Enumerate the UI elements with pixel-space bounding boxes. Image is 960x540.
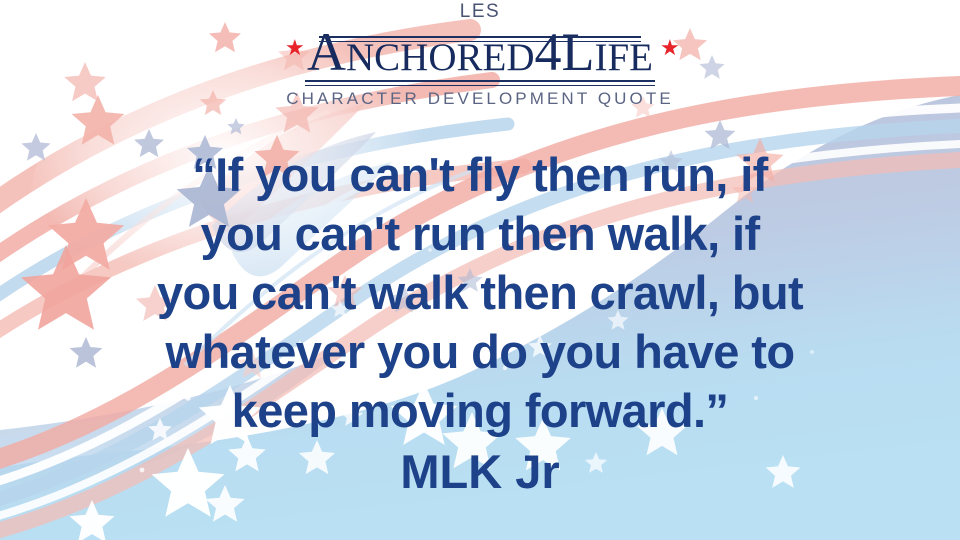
logo-part-4: IFE [595, 36, 654, 79]
quote-block: “If you can't fly then run, if you can't… [0, 145, 960, 504]
quote-line-1: “If you can't fly then run, if [0, 145, 960, 204]
logo-tagline: CHARACTER DEVELOPMENT QUOTE [0, 90, 960, 107]
logo-rule-bottom [305, 80, 655, 86]
quote-line-4: whatever you do you have to [0, 322, 960, 381]
logo-rule-top [319, 36, 641, 42]
quote-line-3: you can't walk then crawl, but [0, 263, 960, 322]
logo-part-3: L [562, 22, 595, 82]
logo-pretitle: LES [0, 2, 960, 24]
star-icon-right: ★ [660, 39, 677, 56]
star-icon-left: ★ [285, 39, 302, 56]
logo-wordmark: ANCHORED4LIFE [307, 25, 653, 83]
quote-attribution: MLK Jr [0, 440, 960, 504]
logo-part-1: NCHORED [346, 36, 535, 79]
logo-block: LES ★ ANCHORED4LIFE ★ CHARACTER DEVELOPM… [0, 2, 960, 107]
quote-line-2: you can't run then walk, if [0, 204, 960, 263]
logo-wordmark-wrap: ★ ANCHORED4LIFE ★ [277, 25, 683, 83]
logo-part-2: 4 [535, 22, 562, 82]
quote-line-5: keep moving forward.” [0, 381, 960, 440]
quote-graphic-canvas: LES ★ ANCHORED4LIFE ★ CHARACTER DEVELOPM… [0, 0, 960, 540]
logo-part-0: A [307, 22, 346, 82]
